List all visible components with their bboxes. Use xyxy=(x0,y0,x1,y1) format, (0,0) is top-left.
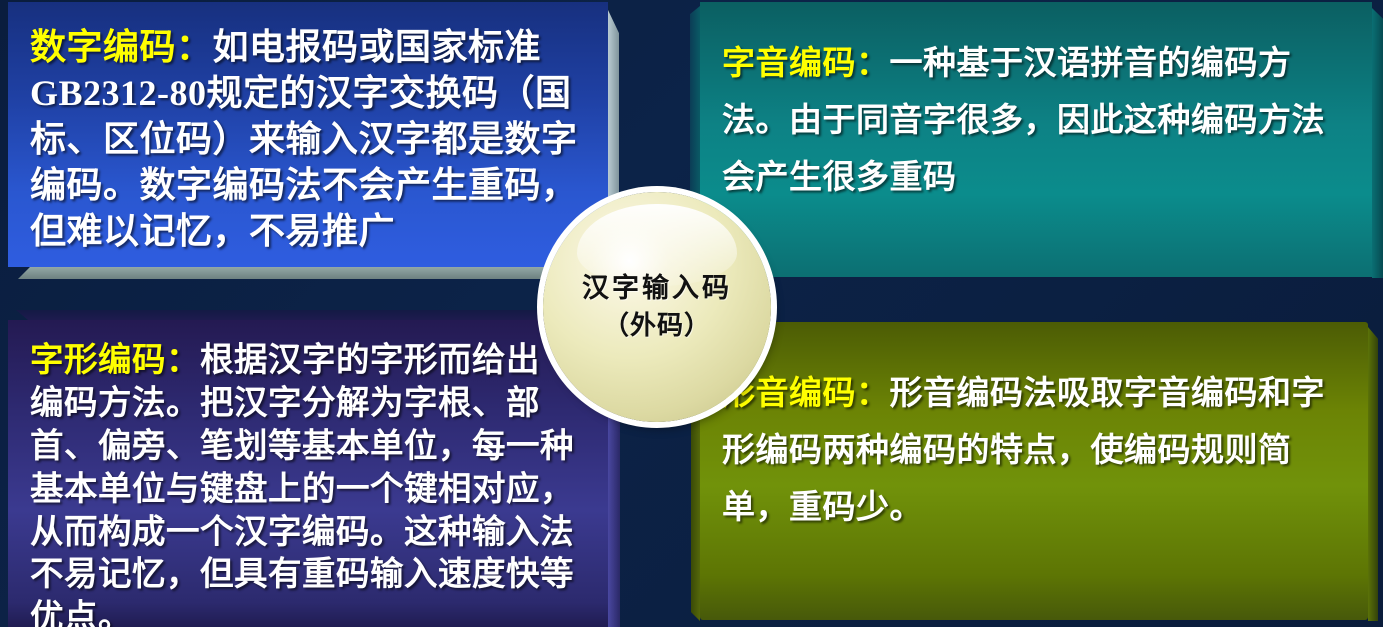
panel-shape-sound-encoding-face: 形音编码：形音编码法吸取字音编码和字形编码两种编码的特点，使编码规则简单，重码少… xyxy=(700,322,1368,620)
panel-phonetic-encoding[interactable]: 字音编码：一种基于汉语拼音的编码方法。由于同音字很多，因此这种编码方法会产生很多… xyxy=(700,2,1372,277)
slide-canvas: 数字编码：如电报码或国家标准GB2312-80规定的汉字交换码（国标、区位码）来… xyxy=(0,0,1383,627)
panel-digital-encoding-bottom-bevel xyxy=(18,267,616,279)
panel-shape-sound-encoding[interactable]: 形音编码：形音编码法吸取字音编码和字形编码两种编码的特点，使编码规则简单，重码少… xyxy=(700,322,1368,620)
panel-digital-encoding-text: 数字编码：如电报码或国家标准GB2312-80规定的汉字交换码（国标、区位码）来… xyxy=(30,24,582,254)
panel-shape-sound-encoding-text: 形音编码：形音编码法吸取字音编码和字形编码两种编码的特点，使编码规则简单，重码少… xyxy=(722,366,1342,536)
panel-glyph-encoding-face: 字形编码：根据汉字的字形而给出 编码方法。把汉字分解为字根、部首、偏旁、笔划等基… xyxy=(8,320,608,627)
panel-shape-sound-encoding-right-bevel xyxy=(1368,327,1378,621)
panel-glyph-encoding-keyword: 字形编码： xyxy=(30,342,200,379)
panel-shape-sound-encoding-keyword: 形音编码： xyxy=(722,376,890,412)
panel-phonetic-encoding-text: 字音编码：一种基于汉语拼音的编码方法。由于同音字很多，因此这种编码方法会产生很多… xyxy=(722,36,1346,206)
center-node-sphere[interactable]: 汉字输入码 （外码） xyxy=(543,192,771,422)
panel-phonetic-encoding-keyword: 字音编码： xyxy=(722,46,890,82)
panel-glyph-encoding-top-bevel xyxy=(16,310,614,320)
panel-digital-encoding[interactable]: 数字编码：如电报码或国家标准GB2312-80规定的汉字交换码（国标、区位码）来… xyxy=(8,2,608,267)
panel-digital-encoding-face: 数字编码：如电报码或国家标准GB2312-80规定的汉字交换码（国标、区位码）来… xyxy=(8,2,608,267)
center-node-title: 汉字输入码 xyxy=(582,269,732,307)
panel-glyph-encoding[interactable]: 字形编码：根据汉字的字形而给出 编码方法。把汉字分解为字根、部首、偏旁、笔划等基… xyxy=(8,320,608,627)
panel-glyph-encoding-text: 字形编码：根据汉字的字形而给出 编码方法。把汉字分解为字根、部首、偏旁、笔划等基… xyxy=(30,340,582,627)
panel-phonetic-encoding-face: 字音编码：一种基于汉语拼音的编码方法。由于同音字很多，因此这种编码方法会产生很多… xyxy=(700,2,1372,277)
panel-phonetic-encoding-right-bevel xyxy=(1372,8,1383,278)
panel-glyph-encoding-body: 根据汉字的字形而给出 编码方法。把汉字分解为字根、部首、偏旁、笔划等基本单位，每… xyxy=(30,342,574,627)
panel-digital-encoding-keyword: 数字编码： xyxy=(30,27,213,67)
center-node-subtitle: （外码） xyxy=(603,308,711,345)
